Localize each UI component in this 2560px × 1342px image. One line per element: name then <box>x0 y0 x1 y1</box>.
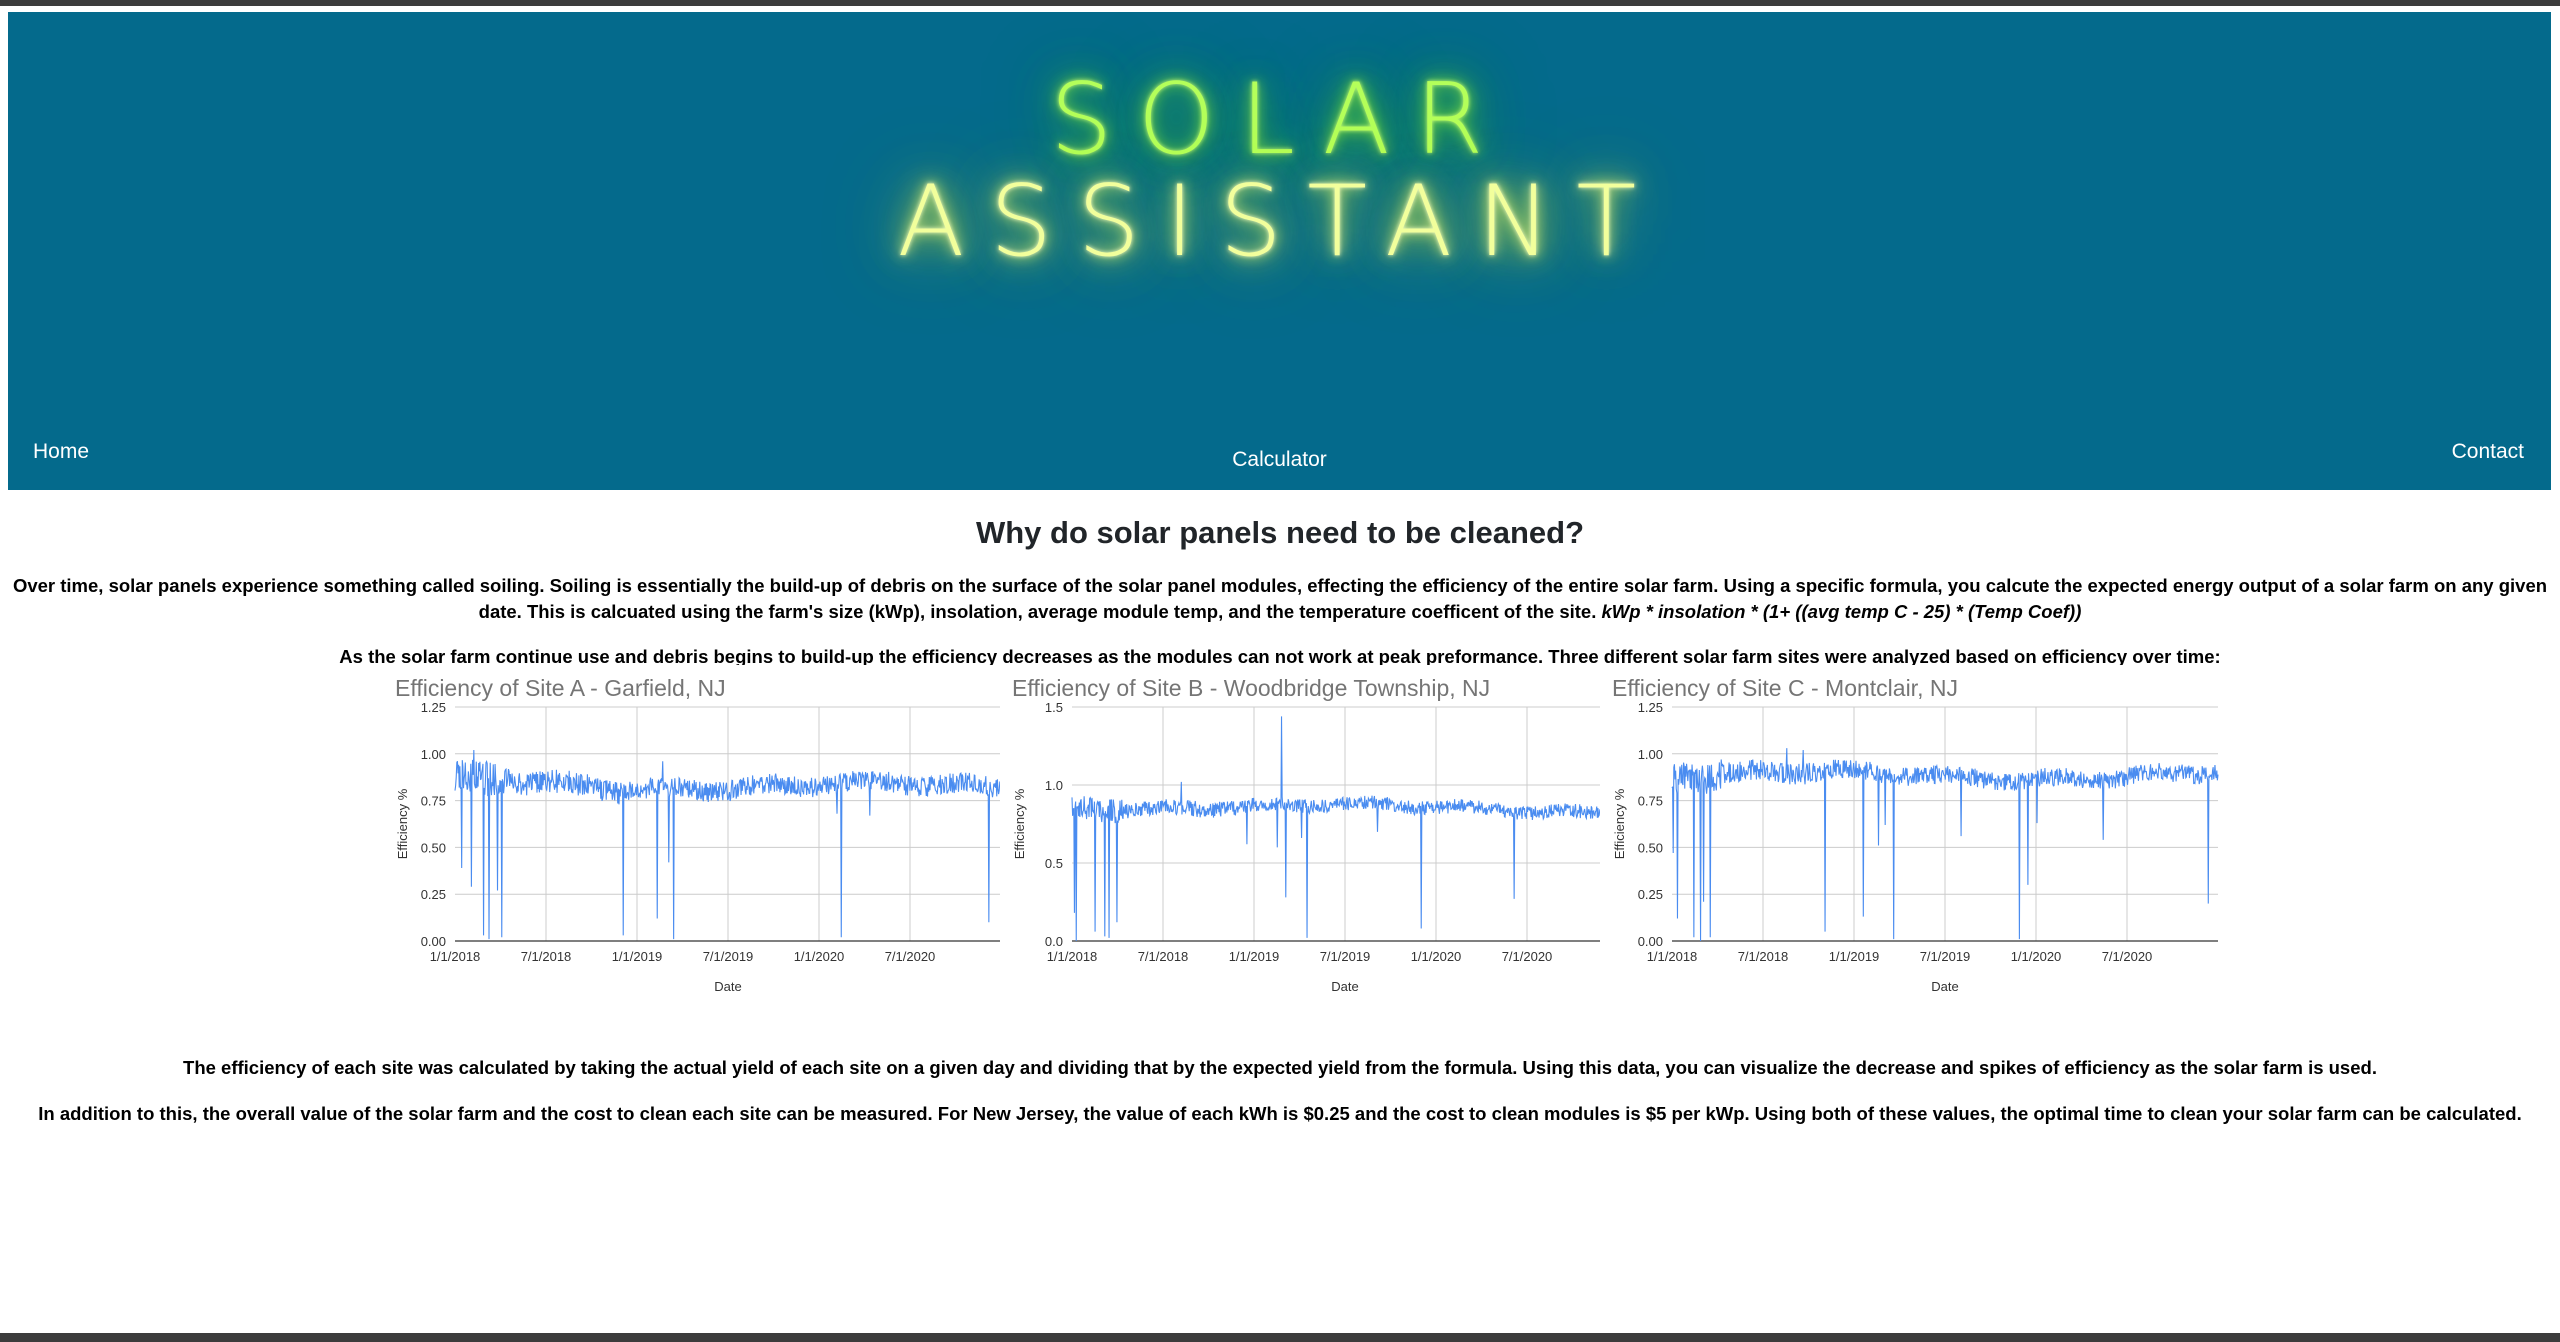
intro-paragraph-text: Over time, solar panels experience somet… <box>13 575 2547 622</box>
main-content: Why do solar panels need to be cleaned? … <box>0 490 2560 670</box>
chart-card-site-c: Efficiency of Site C - Montclair, NJ 0.0… <box>1600 665 2240 1005</box>
svg-text:Date: Date <box>1931 979 1958 994</box>
svg-text:1/1/2019: 1/1/2019 <box>612 949 663 964</box>
svg-text:1.0: 1.0 <box>1045 778 1063 793</box>
chart-canvas-site-c[interactable]: 0.000.250.500.751.001.251/1/20187/1/2018… <box>1600 697 2240 997</box>
charts-row: Efficiency of Site A - Garfield, NJ 0.00… <box>0 665 2560 1025</box>
svg-text:0.25: 0.25 <box>421 887 446 902</box>
svg-text:1/1/2020: 1/1/2020 <box>794 949 845 964</box>
logo-line-assistant: ASSISTANT <box>8 172 2551 274</box>
svg-text:0.5: 0.5 <box>1045 856 1063 871</box>
nav-link-home[interactable]: Home <box>33 440 89 464</box>
svg-text:1.25: 1.25 <box>421 700 446 715</box>
chart-canvas-site-a[interactable]: 0.000.250.500.751.001.251/1/20187/1/2018… <box>383 697 1023 997</box>
svg-text:1.5: 1.5 <box>1045 700 1063 715</box>
svg-text:1/1/2020: 1/1/2020 <box>2011 949 2062 964</box>
svg-text:7/1/2018: 7/1/2018 <box>1138 949 1189 964</box>
svg-text:1/1/2018: 1/1/2018 <box>430 949 481 964</box>
svg-text:Efficiency %: Efficiency % <box>1612 788 1627 859</box>
bottom-paragraphs: The efficiency of each site was calculat… <box>0 1035 2560 1126</box>
second-paragraph: As the solar farm continue use and debri… <box>0 624 2560 670</box>
main-navigation: Home Calculator Contact <box>8 426 2551 490</box>
svg-text:7/1/2020: 7/1/2020 <box>2102 949 2153 964</box>
svg-text:Efficiency %: Efficiency % <box>395 788 410 859</box>
logo-line-solar: SOLAR <box>8 70 2551 172</box>
page-title: Why do solar panels need to be cleaned? <box>0 490 2560 551</box>
svg-text:1/1/2018: 1/1/2018 <box>1647 949 1698 964</box>
svg-text:7/1/2019: 7/1/2019 <box>703 949 754 964</box>
svg-text:1.00: 1.00 <box>421 747 446 762</box>
svg-text:7/1/2019: 7/1/2019 <box>1320 949 1371 964</box>
svg-text:Date: Date <box>1331 979 1358 994</box>
chart-card-site-b: Efficiency of Site B - Woodbridge Townsh… <box>1000 665 1640 1005</box>
svg-text:7/1/2018: 7/1/2018 <box>521 949 572 964</box>
svg-text:1/1/2019: 1/1/2019 <box>1829 949 1880 964</box>
svg-text:0.50: 0.50 <box>1638 840 1663 855</box>
svg-text:1/1/2018: 1/1/2018 <box>1047 949 1098 964</box>
value-cost-paragraph: In addition to this, the overall value o… <box>0 1081 2560 1127</box>
chart-card-site-a: Efficiency of Site A - Garfield, NJ 0.00… <box>383 665 1023 1005</box>
svg-text:0.00: 0.00 <box>1638 934 1663 949</box>
svg-text:Efficiency %: Efficiency % <box>1012 788 1027 859</box>
page-root: SOLAR ASSISTANT Home Calculator Contact … <box>0 0 2560 1342</box>
svg-text:Date: Date <box>714 979 741 994</box>
svg-text:1/1/2019: 1/1/2019 <box>1229 949 1280 964</box>
svg-text:7/1/2020: 7/1/2020 <box>885 949 936 964</box>
svg-text:0.75: 0.75 <box>421 794 446 809</box>
svg-text:0.50: 0.50 <box>421 840 446 855</box>
svg-text:0.25: 0.25 <box>1638 887 1663 902</box>
svg-text:0.00: 0.00 <box>421 934 446 949</box>
svg-text:1.00: 1.00 <box>1638 747 1663 762</box>
intro-paragraph: Over time, solar panels experience somet… <box>0 551 2560 624</box>
site-logo: SOLAR ASSISTANT <box>8 70 2551 274</box>
svg-text:0.75: 0.75 <box>1638 794 1663 809</box>
svg-text:7/1/2020: 7/1/2020 <box>1502 949 1553 964</box>
nav-link-contact[interactable]: Contact <box>2452 440 2524 464</box>
chart-canvas-site-b[interactable]: 0.00.51.01.51/1/20187/1/20181/1/20197/1/… <box>1000 697 1640 997</box>
nav-link-calculator[interactable]: Calculator <box>1232 448 1327 472</box>
browser-bottom-bar <box>0 1333 2560 1342</box>
svg-text:7/1/2018: 7/1/2018 <box>1738 949 1789 964</box>
svg-text:1/1/2020: 1/1/2020 <box>1411 949 1462 964</box>
svg-text:1.25: 1.25 <box>1638 700 1663 715</box>
svg-text:0.0: 0.0 <box>1045 934 1063 949</box>
efficiency-formula: kWp * insolation * (1+ ((avg temp C - 25… <box>1602 601 2082 622</box>
efficiency-explanation-paragraph: The efficiency of each site was calculat… <box>0 1035 2560 1081</box>
svg-text:7/1/2019: 7/1/2019 <box>1920 949 1971 964</box>
browser-top-bar <box>0 0 2560 6</box>
hero-banner: SOLAR ASSISTANT Home Calculator Contact <box>8 12 2551 490</box>
